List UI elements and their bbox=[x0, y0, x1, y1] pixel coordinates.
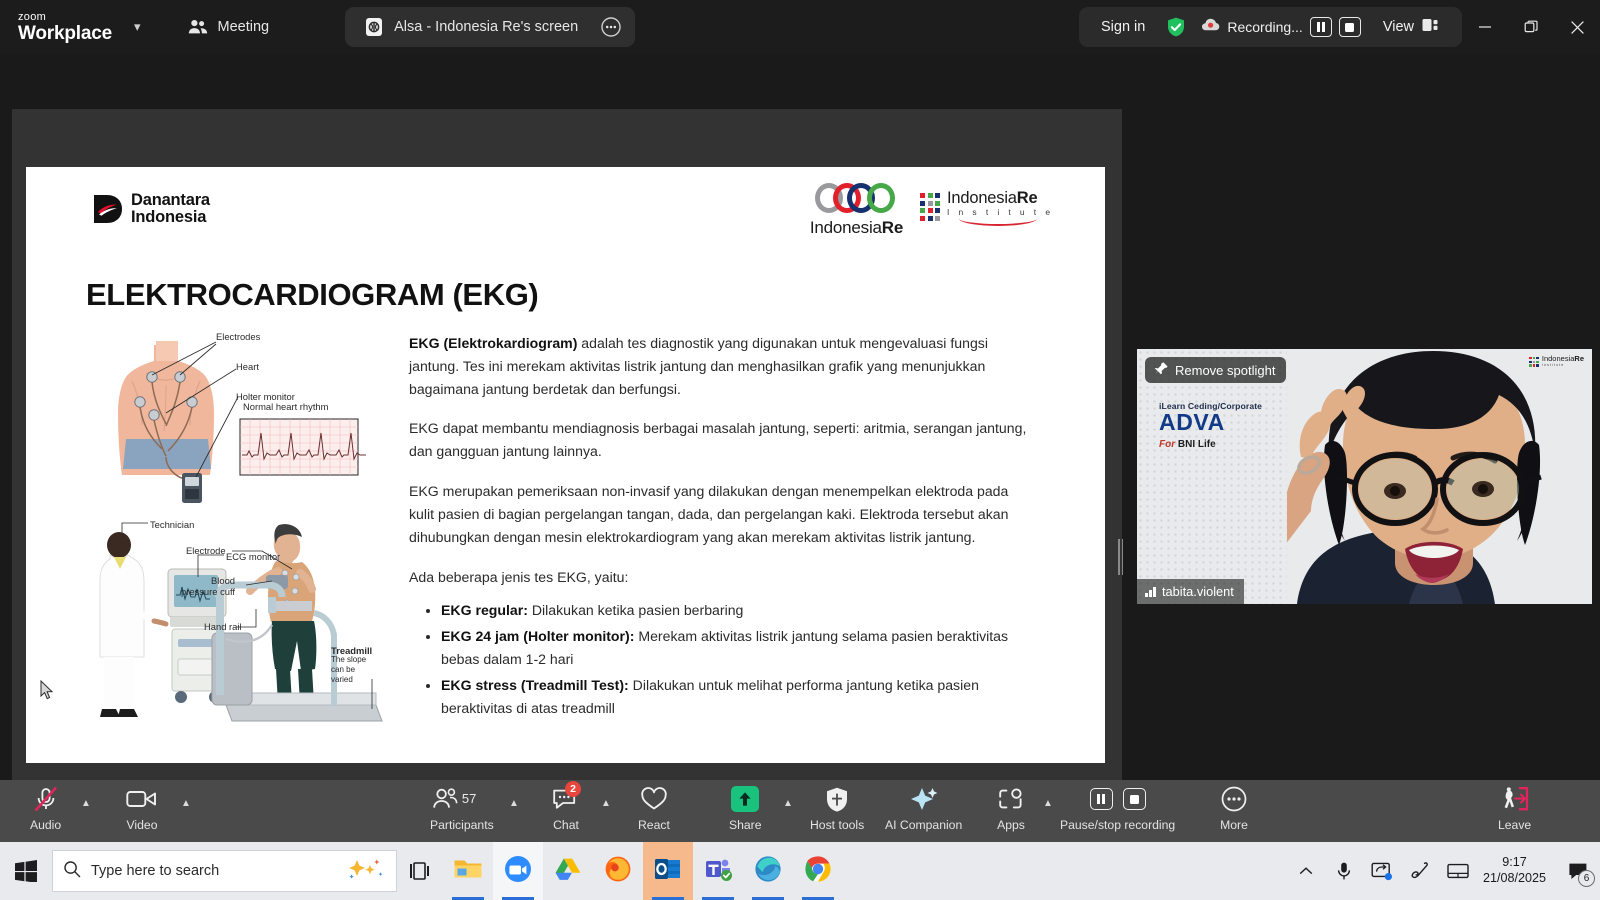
slide-body-text: EKG (Elektrokardiogram) adalah tes diagn… bbox=[409, 332, 1027, 723]
taskbar-app-google-chrome[interactable] bbox=[793, 842, 843, 900]
taskbar-app-microsoft-teams[interactable] bbox=[693, 842, 743, 900]
chevron-up-icon[interactable] bbox=[1287, 842, 1325, 900]
toolbar-chat-button[interactable]: 2 Chat bbox=[551, 784, 581, 832]
toolbar-apps-button[interactable]: Apps bbox=[996, 784, 1026, 832]
remove-spotlight-button[interactable]: Remove spotlight bbox=[1145, 357, 1286, 383]
background-dot-pattern bbox=[1137, 349, 1287, 604]
taskbar-app-firefox[interactable] bbox=[593, 842, 643, 900]
clock-date: 21/08/2025 bbox=[1483, 871, 1546, 887]
slide-paragraph-2: EKG dapat membantu mendiagnosis berbagai… bbox=[409, 417, 1027, 463]
outlook-icon bbox=[654, 856, 682, 887]
microsoft-edge-icon bbox=[754, 855, 782, 888]
meeting-stage: Danantara Indonesia IndonesiaRe bbox=[0, 54, 1600, 780]
taskbar-app-file-explorer[interactable] bbox=[443, 842, 493, 900]
more-horizontal-icon[interactable] bbox=[597, 13, 625, 41]
layout-icon bbox=[1422, 18, 1440, 37]
figure2-label-technician: Technician bbox=[150, 519, 194, 530]
pause-recording-button[interactable] bbox=[1310, 17, 1332, 37]
figure2-label-treadmill-note: The slope can be varied bbox=[331, 655, 366, 685]
figure-treadmill-stress-test-illustration: Technician ECG monitor Electrode Blood p… bbox=[86, 517, 386, 747]
indore-prefix: Indonesia bbox=[810, 218, 882, 237]
chat-options-caret-icon[interactable]: ▲ bbox=[601, 798, 611, 809]
toolbar-participants-button[interactable]: 57 Participants bbox=[430, 784, 494, 832]
leave-icon bbox=[1499, 784, 1531, 814]
participants-count: 57 bbox=[462, 791, 476, 806]
inst-suffix: Re bbox=[1017, 189, 1038, 207]
bullet-3-bold: EKG stress (Treadmill Test): bbox=[441, 677, 629, 693]
toolbar-ai-companion-button[interactable]: AI Companion bbox=[885, 784, 962, 832]
pin-spotlight-icon bbox=[1154, 361, 1169, 379]
figure2-label-ecg-monitor: ECG monitor bbox=[226, 551, 280, 562]
participant-video-tile[interactable]: iLearn Ceding/Corporate ADVA For BNI Lif… bbox=[1137, 349, 1592, 604]
recording-status-group: Recording... bbox=[1195, 17, 1366, 37]
cloud-record-icon bbox=[1201, 18, 1220, 37]
toolbar-host-tools-button[interactable]: Host tools bbox=[810, 784, 864, 832]
toolbar-recording-label: Pause/stop recording bbox=[1060, 818, 1175, 832]
camera-icon bbox=[126, 784, 158, 814]
heart-icon bbox=[639, 784, 669, 814]
task-view-icon[interactable] bbox=[397, 842, 443, 900]
toolbar-share-button[interactable]: Share bbox=[729, 784, 762, 832]
google-drive-icon bbox=[554, 856, 582, 887]
shield-icon bbox=[824, 784, 850, 814]
people-icon: 57 bbox=[432, 784, 492, 814]
screen-share-icon bbox=[363, 16, 385, 38]
search-placeholder: Type here to search bbox=[91, 863, 219, 879]
shared-screen-frame: Danantara Indonesia IndonesiaRe bbox=[12, 109, 1122, 781]
toolbar-leave-button[interactable]: Leave bbox=[1498, 784, 1531, 832]
participant-name-label: tabita.violent bbox=[1162, 584, 1234, 599]
view-button[interactable]: View bbox=[1367, 18, 1452, 37]
slide-bullet-list: EKG regular: Dilakukan ketika pasien ber… bbox=[441, 599, 1027, 719]
indonesia-re-wordmark: IndonesiaRe bbox=[789, 218, 924, 238]
figure1-label-normal-heart-rhythm: Normal heart rhythm bbox=[243, 401, 328, 412]
toolbar-participants-label: Participants bbox=[430, 818, 494, 832]
indonesia-re-institute-logo: IndonesiaRe I n s t i t u t e bbox=[920, 189, 1053, 221]
share-screen-icon bbox=[731, 784, 759, 814]
pause-recording-icon[interactable] bbox=[1090, 788, 1113, 810]
tab-meeting-label: Meeting bbox=[217, 19, 269, 35]
recording-label: Recording... bbox=[1227, 19, 1302, 35]
notification-count: 6 bbox=[1578, 870, 1595, 887]
taskbar-app-zoom[interactable] bbox=[493, 842, 543, 900]
sign-in-button[interactable]: Sign in bbox=[1089, 19, 1157, 35]
screen-share-tray-icon[interactable] bbox=[1363, 842, 1401, 900]
search-icon bbox=[63, 860, 81, 883]
participants-options-caret-icon[interactable]: ▲ bbox=[509, 798, 519, 809]
signal-bars-icon bbox=[1145, 586, 1156, 597]
zoom-wordmark-big: Workplace bbox=[18, 24, 112, 43]
figure-ecg-electrodes-illustration: Electrodes Heart Holter monitor Normal h… bbox=[88, 327, 378, 522]
indonesia-re-rings-icon bbox=[789, 181, 924, 215]
figure1-label-electrodes: Electrodes bbox=[216, 331, 260, 342]
mouse-cursor bbox=[40, 680, 54, 705]
background-banner-text: iLearn Ceding/Corporate ADVA For BNI Lif… bbox=[1159, 401, 1262, 450]
banner-line-3-prefix: For bbox=[1159, 439, 1175, 450]
institute-wordmark: IndonesiaRe I n s t i t u t e bbox=[947, 189, 1053, 217]
presentation-slide: Danantara Indonesia IndonesiaRe bbox=[26, 167, 1105, 763]
danantara-wordmark: Danantara Indonesia bbox=[131, 192, 210, 226]
file-explorer-icon bbox=[453, 856, 483, 887]
minimize-icon[interactable] bbox=[1462, 0, 1508, 54]
sparkle-icon bbox=[344, 857, 386, 886]
system-tray: 9:17 21/08/2025 6 bbox=[1287, 842, 1600, 900]
participant-name-badge: tabita.violent bbox=[1137, 579, 1244, 604]
inst-prefix: Indonesia bbox=[947, 189, 1017, 207]
toolbar-host-tools-label: Host tools bbox=[810, 818, 864, 832]
microphone-icon[interactable] bbox=[1325, 842, 1363, 900]
audio-options-caret-icon[interactable]: ▲ bbox=[81, 798, 91, 809]
sparkle-icon bbox=[909, 784, 939, 814]
titlebar-status-pill: Sign in Recording... bbox=[1079, 7, 1462, 47]
toolbar-audio-button[interactable]: Audio bbox=[30, 784, 61, 832]
list-item: EKG stress (Treadmill Test): Dilakukan u… bbox=[441, 674, 1027, 720]
zoom-workplace-logo: zoom Workplace bbox=[18, 12, 112, 43]
list-item: EKG 24 jam (Holter monitor): Merekam akt… bbox=[441, 625, 1027, 671]
figure2-label-bp-cuff: Blood pressure cuff bbox=[181, 575, 235, 597]
danantara-mark-icon bbox=[92, 193, 124, 225]
banner-line-2: ADVA bbox=[1159, 409, 1262, 436]
tab-screen-share-label: Alsa - Indonesia Re's screen bbox=[394, 19, 578, 35]
stop-recording-icon[interactable] bbox=[1123, 788, 1146, 810]
zoom-icon bbox=[504, 855, 532, 888]
pause-stop-icon bbox=[1090, 784, 1146, 814]
zoom-title-bar: zoom Workplace ▾ Meeting Alsa - Indonesi… bbox=[0, 0, 1600, 54]
figure2-label-electrode: Electrode bbox=[186, 545, 226, 556]
windows-start-icon[interactable] bbox=[0, 842, 52, 900]
people-icon bbox=[188, 19, 208, 35]
indore-suffix: Re bbox=[882, 218, 903, 237]
chat-unread-badge: 2 bbox=[565, 781, 581, 797]
figure2-label-hand-rail: Hand rail bbox=[204, 621, 242, 632]
microphone-muted-icon bbox=[31, 784, 61, 814]
toolbar-chat-label: Chat bbox=[553, 818, 579, 832]
slide-title: ELEKTROCARDIOGRAM (EKG) bbox=[86, 277, 538, 313]
more-horizontal-icon bbox=[1219, 784, 1249, 814]
indonesia-re-logo: IndonesiaRe bbox=[789, 181, 924, 238]
windows-taskbar: Type here to search bbox=[0, 842, 1600, 900]
share-scroll-grip[interactable] bbox=[1117, 539, 1124, 575]
slide-paragraph-3: EKG merupakan pemeriksaan non-invasif ya… bbox=[409, 480, 1027, 548]
shield-check-icon[interactable] bbox=[1165, 16, 1187, 38]
institute-dots-icon bbox=[920, 193, 940, 221]
google-chrome-icon bbox=[804, 855, 832, 888]
toolbar-react-button[interactable]: React bbox=[638, 784, 670, 832]
banner-line-3: For BNI Life bbox=[1159, 439, 1262, 450]
toolbar-apps-label: Apps bbox=[997, 818, 1025, 832]
toolbar-more-label: More bbox=[1220, 818, 1248, 832]
tab-screen-share[interactable]: Alsa - Indonesia Re's screen bbox=[345, 7, 635, 47]
taskbar-app-outlook[interactable] bbox=[643, 842, 693, 900]
danantara-indonesia-logo: Danantara Indonesia bbox=[92, 192, 210, 226]
titlebar-right-cluster: Sign in Recording... bbox=[1079, 7, 1600, 47]
banner-line-3-text: BNI Life bbox=[1178, 439, 1216, 450]
toolbar-video-button[interactable]: Video bbox=[126, 784, 158, 832]
institute-subtitle: I n s t i t u t e bbox=[947, 207, 1053, 217]
view-label: View bbox=[1383, 19, 1414, 35]
danantara-line1: Danantara bbox=[131, 192, 210, 209]
pen-icon[interactable] bbox=[1401, 842, 1439, 900]
toolbar-share-label: Share bbox=[729, 818, 762, 832]
share-options-caret-icon[interactable]: ▲ bbox=[783, 798, 793, 809]
firefox-icon bbox=[604, 855, 632, 888]
close-icon[interactable] bbox=[1554, 0, 1600, 54]
video-options-caret-icon[interactable]: ▲ bbox=[181, 798, 191, 809]
apps-icon bbox=[996, 784, 1026, 814]
notification-icon[interactable]: 6 bbox=[1556, 842, 1600, 900]
slide-paragraph-1-bold: EKG (Elektrokardiogram) bbox=[409, 335, 577, 351]
zoom-meeting-toolbar: Audio ▲ Video ▲ 57 Participants ▲ bbox=[0, 780, 1600, 842]
bullet-1-rest: Dilakukan ketika pasien berbaring bbox=[528, 602, 743, 618]
bullet-2-bold: EKG 24 jam (Holter monitor): bbox=[441, 628, 634, 644]
remove-spotlight-label: Remove spotlight bbox=[1175, 363, 1275, 378]
institute-swoosh-icon bbox=[959, 217, 1037, 226]
touchpad-icon[interactable] bbox=[1439, 842, 1477, 900]
slide-paragraph-4: Ada beberapa jenis tes EKG, yaitu: bbox=[409, 566, 1027, 589]
toolbar-more-button[interactable]: More bbox=[1219, 784, 1249, 832]
toolbar-leave-label: Leave bbox=[1498, 818, 1531, 832]
taskbar-app-google-drive[interactable] bbox=[543, 842, 593, 900]
chat-icon: 2 bbox=[551, 784, 581, 814]
toolbar-video-label: Video bbox=[127, 818, 158, 832]
restore-icon[interactable] bbox=[1508, 0, 1554, 54]
taskbar-clock[interactable]: 9:17 21/08/2025 bbox=[1483, 855, 1546, 886]
participant-webcam-image bbox=[1287, 349, 1592, 604]
slide-paragraph-1: EKG (Elektrokardiogram) adalah tes diagn… bbox=[409, 332, 1027, 400]
bullet-1-bold: EKG regular: bbox=[441, 602, 528, 618]
danantara-line2: Indonesia bbox=[131, 209, 210, 226]
clock-time: 9:17 bbox=[1483, 855, 1546, 871]
microsoft-teams-icon bbox=[704, 856, 732, 887]
tab-meeting[interactable]: Meeting bbox=[170, 7, 287, 47]
toolbar-recording-button[interactable]: Pause/stop recording bbox=[1060, 784, 1175, 832]
figure1-label-heart: Heart bbox=[236, 361, 259, 372]
list-item: EKG regular: Dilakukan ketika pasien ber… bbox=[441, 599, 1027, 622]
taskbar-app-microsoft-edge[interactable] bbox=[743, 842, 793, 900]
search-input[interactable]: Type here to search bbox=[52, 850, 397, 892]
chevron-down-icon[interactable]: ▾ bbox=[134, 19, 141, 35]
toolbar-audio-label: Audio bbox=[30, 818, 61, 832]
toolbar-react-label: React bbox=[638, 818, 670, 832]
toolbar-ai-companion-label: AI Companion bbox=[885, 818, 962, 832]
zoom-wordmark-small: zoom bbox=[18, 12, 112, 23]
apps-options-caret-icon[interactable]: ▲ bbox=[1043, 798, 1053, 809]
stop-recording-button[interactable] bbox=[1339, 17, 1361, 37]
